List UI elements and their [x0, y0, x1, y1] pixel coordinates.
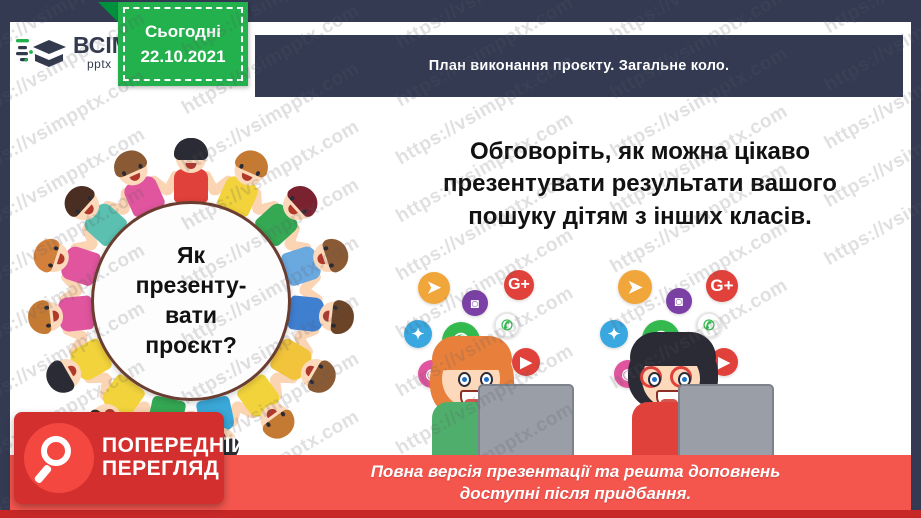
- today-date-badge: Сьогодні 22.10.2021: [118, 2, 248, 86]
- preview-button-line-1: ПОПЕРЕДНІЙ: [102, 435, 247, 458]
- preview-button[interactable]: ПОПЕРЕДНІЙ ПЕРЕГЛЯД: [14, 412, 224, 504]
- girl-monitor: [478, 384, 574, 462]
- google-plus-icon: G+: [504, 270, 534, 300]
- center-question-text: Як презенту- вати проєкт?: [136, 241, 247, 361]
- girl-eye-left: [458, 372, 471, 387]
- children-at-computers-scene: ➤◙G+✦✆✆◉f▶➤◙G+✦✆✆◉f▶: [400, 268, 820, 468]
- instagram-icon: ◙: [462, 290, 488, 316]
- graduation-cap-icon: [16, 32, 68, 72]
- circle-line-1: Як: [136, 241, 247, 271]
- girl-at-computer: [416, 328, 566, 468]
- presentation-slide: Як презенту- вати проєкт? ➤◙G+✦✆✆◉f▶➤◙G+…: [0, 0, 921, 518]
- kid-figure: [285, 292, 351, 338]
- center-question-circle: Як презенту- вати проєкт?: [91, 201, 291, 401]
- telegram-icon: ➤: [418, 272, 450, 304]
- kid-figure: [31, 292, 97, 338]
- page-title: План виконання проєкту. Загальне коло.: [429, 58, 729, 74]
- google-plus-icon-2: G+: [706, 270, 738, 302]
- today-label: Сьогодні: [145, 19, 221, 45]
- telegram-icon-2: ➤: [618, 270, 652, 304]
- main-paragraph: Обговоріть, як можна цікаво презентувати…: [415, 136, 865, 233]
- circle-line-4: проєкт?: [136, 331, 247, 361]
- kid-figure: [171, 143, 211, 205]
- boy-hair-front: [630, 332, 716, 366]
- header-bar: План виконання проєкту. Загальне коло.: [255, 35, 903, 97]
- preview-button-line-2: ПЕРЕГЛЯД: [102, 458, 247, 481]
- purchase-banner-line-1: Повна версія презентації та решта доповн…: [371, 461, 781, 482]
- today-date: 22.10.2021: [140, 44, 225, 70]
- girl-hair-front: [432, 336, 512, 370]
- instagram-icon-2: ◙: [666, 288, 692, 314]
- magnifier-icon: [24, 423, 94, 493]
- boy-monitor: [678, 384, 774, 462]
- boy-at-computer: [616, 328, 766, 468]
- purchase-banner-line-2: доступні після придбання.: [371, 483, 781, 504]
- bottom-strip: [0, 510, 921, 518]
- circle-line-3: вати: [136, 301, 247, 331]
- boy-eye-left: [648, 372, 661, 387]
- circle-line-2: презенту-: [136, 271, 247, 301]
